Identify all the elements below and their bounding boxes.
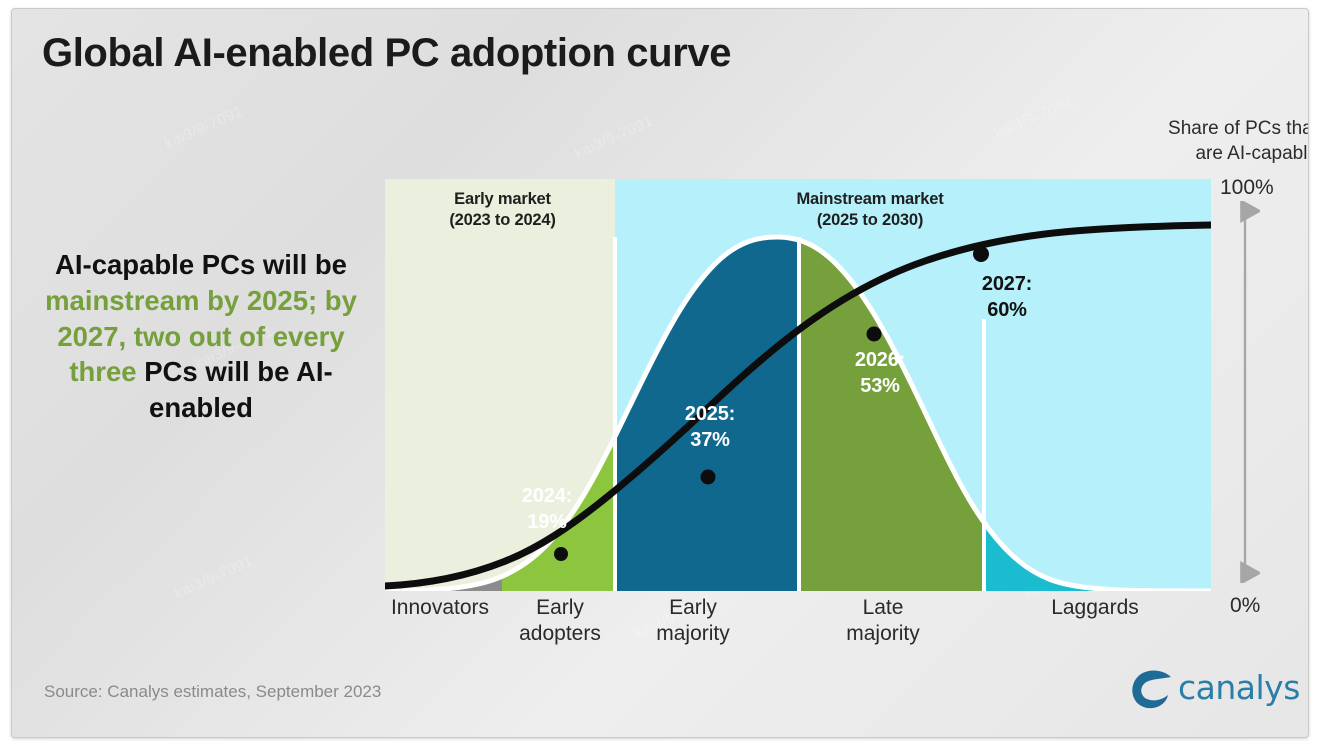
page-title: Global AI-enabled PC adoption curve — [42, 31, 731, 75]
annotation-2025-year: 2025: — [655, 401, 765, 427]
phase-period-early-market: (2023 to 2024) — [395, 210, 610, 231]
source-note: Source: Canalys estimates, September 202… — [44, 682, 381, 702]
canalys-swoosh-icon — [1130, 668, 1174, 710]
annotation-2026-year: 2026: — [825, 347, 935, 373]
x-label-late-majority-line1: Late — [813, 595, 953, 621]
segment-innovators — [385, 179, 502, 591]
annotation-2025-value: 37% — [655, 427, 765, 453]
annotation-2024-value: 19% — [497, 509, 597, 535]
annotation-2027-year: 2027: — [947, 271, 1067, 297]
headline-statement: AI-capable PCs will be mainstream by 202… — [36, 247, 366, 426]
x-label-innovators: Innovators — [375, 595, 505, 621]
y-axis-tick-top: 100% — [1220, 176, 1274, 200]
y-axis-caption-line1: Share of PCs that — [1100, 117, 1309, 142]
data-point-2027 — [973, 246, 989, 262]
x-label-early-majority-line2: majority — [623, 621, 763, 647]
x-label-early-adopters: Early adopters — [500, 595, 620, 646]
x-label-early-majority: Early majority — [623, 595, 763, 646]
annotation-2026-value: 53% — [825, 373, 935, 399]
x-label-late-majority-line2: majority — [813, 621, 953, 647]
y-axis-tick-bottom: 0% — [1230, 594, 1260, 618]
phase-period-mainstream-market: (2025 to 2030) — [715, 210, 1025, 231]
x-label-early-majority-line1: Early — [623, 595, 763, 621]
canalys-wordmark: canalys — [1178, 668, 1300, 707]
data-point-2024 — [554, 547, 568, 561]
annotation-2025: 2025: 37% — [655, 401, 765, 453]
headline-part-3: PCs will be AI-enabled — [137, 356, 333, 423]
annotation-2024: 2024: 19% — [497, 483, 597, 535]
adoption-curve-chart: Early market (2023 to 2024) Mainstream m… — [385, 179, 1211, 591]
annotation-2026: 2026: 53% — [825, 347, 935, 399]
x-label-early-adopters-line1: Early — [500, 595, 620, 621]
y-axis-caption-line2: are AI-capable — [1100, 142, 1309, 167]
annotation-2027: 2027: 60% — [947, 271, 1067, 323]
x-label-laggards: Laggards — [1005, 595, 1185, 621]
y-axis-caption: Share of PCs that are AI-capable — [1100, 117, 1309, 166]
annotation-2024-year: 2024: — [497, 483, 597, 509]
headline-part-1: AI-capable PCs will be — [55, 249, 347, 280]
x-label-early-adopters-line2: adopters — [500, 621, 620, 647]
phase-label-early-market: Early market (2023 to 2024) — [395, 189, 610, 231]
phase-name-early-market: Early market — [395, 189, 610, 210]
slide-canvas: kai3/9-7091 kai3/9-7091 kai3/9-7091 kai3… — [11, 8, 1309, 738]
x-label-innovators-line1: Innovators — [375, 595, 505, 621]
annotation-2027-value: 60% — [947, 297, 1067, 323]
phase-name-mainstream-market: Mainstream market — [715, 189, 1025, 210]
data-point-2025 — [701, 470, 716, 485]
x-axis-labels: Innovators Early adopters Early majority… — [385, 595, 1211, 653]
x-label-laggards-line1: Laggards — [1005, 595, 1185, 621]
data-point-2026 — [867, 327, 882, 342]
phase-label-mainstream-market: Mainstream market (2025 to 2030) — [715, 189, 1025, 231]
x-label-late-majority: Late majority — [813, 595, 953, 646]
canalys-logo: canalys — [1130, 666, 1302, 712]
y-axis-double-arrow — [1230, 201, 1260, 583]
